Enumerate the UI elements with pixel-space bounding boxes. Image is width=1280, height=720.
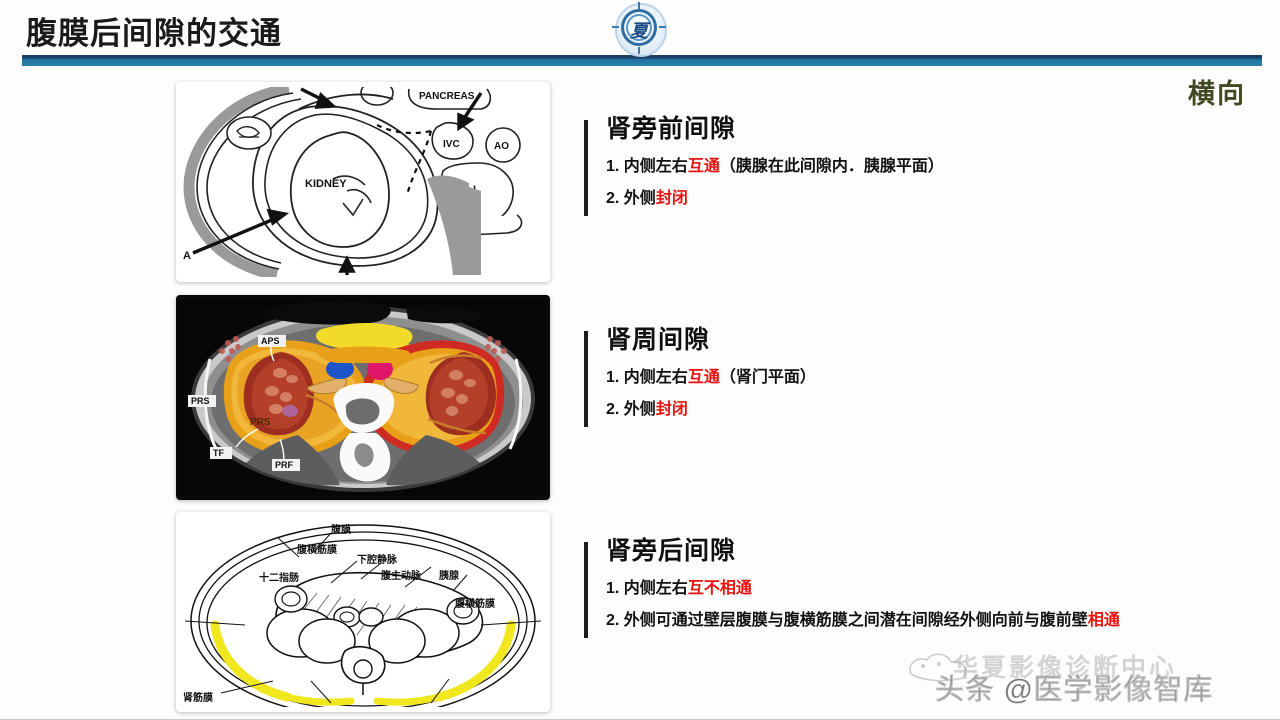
svg-text:PANCREAS: PANCREAS — [419, 91, 475, 102]
list-item: 1. 内侧左右互通（胰腺在此间隙内．胰腺平面） — [606, 157, 944, 176]
watermark: 华夏影像诊断中心 头条 @医学影像智库 — [905, 648, 1275, 714]
item-number: 2. — [606, 190, 619, 207]
item-text-pre: 内侧左右 — [624, 580, 688, 597]
item-text-pre: 内侧左右 — [624, 158, 688, 175]
svg-text:腹主动脉: 腹主动脉 — [381, 569, 422, 582]
section-accent-bar — [584, 542, 588, 638]
figure-anterior-pararenal-diagram: KIDNEY PANCREAS IVC AO L — [176, 82, 550, 282]
svg-text:腹横筋膜: 腹横筋膜 — [455, 597, 495, 610]
institution-logo-icon: 夏 — [604, 2, 674, 54]
item-text-pre: 外侧 — [624, 401, 656, 418]
list-item: 2. 外侧封闭 — [606, 400, 816, 419]
item-text-highlight: 互通 — [688, 158, 720, 175]
section-accent-bar — [584, 331, 588, 427]
item-number: 1. — [606, 580, 619, 597]
item-text-pre: 外侧可通过壁层腹膜与腹横筋膜之间潜在间隙经外侧向前与腹前壁 — [624, 612, 1088, 629]
presentation-slide: 腹膜后间隙的交通 夏 横向 KIDNEY — [0, 0, 1280, 720]
svg-text:KIDNEY: KIDNEY — [305, 178, 347, 190]
list-item: 2. 外侧可通过壁层腹膜与腹横筋膜之间潜在间隙经外侧向前与腹前壁相通 — [606, 611, 1120, 630]
svg-text:IVC: IVC — [443, 139, 460, 150]
item-number: 1. — [606, 369, 619, 386]
item-text-highlight: 封闭 — [656, 190, 688, 207]
section-heading: 肾旁后间隙 — [606, 538, 1120, 566]
item-text-pre: 内侧左右 — [624, 369, 688, 386]
svg-text:TF: TF — [213, 448, 224, 458]
section-accent-bar — [584, 120, 588, 216]
item-text-highlight: 封闭 — [656, 401, 688, 418]
section-heading: 肾旁前间隙 — [606, 116, 944, 144]
logo-tick-top — [638, 2, 640, 9]
item-text-highlight: 相通 — [1088, 612, 1120, 629]
svg-text:腹膜: 腹膜 — [331, 523, 351, 536]
figure-posterior-pararenal-diagram: 腹膜 腹横筋膜 十二指肠 下腔静脉 腹主动脉 胰腺 腹横筋膜 肾筋膜 — [176, 512, 550, 712]
svg-text:PRS: PRS — [191, 396, 210, 406]
watermark-back-text: 华夏影像诊断中心 — [953, 648, 1177, 684]
figure-1-drawing: KIDNEY PANCREAS IVC AO L — [181, 87, 545, 277]
figure-2-ct-image: APS TF PRF PRS PRS — [180, 299, 546, 496]
svg-text:A: A — [183, 250, 191, 262]
page-title: 腹膜后间隙的交通 — [26, 8, 282, 53]
watermark-doodle-icon — [905, 650, 975, 684]
section-anterior-pararenal-space: 肾旁前间隙 1. 内侧左右互通（胰腺在此间隙内．胰腺平面） 2. 外侧封闭 — [584, 116, 944, 208]
list-item: 2. 外侧封闭 — [606, 189, 944, 208]
figure-3-drawing: 腹膜 腹横筋膜 十二指肠 下腔静脉 腹主动脉 胰腺 腹横筋膜 肾筋膜 — [181, 517, 545, 707]
logo-tick-bottom — [638, 47, 640, 54]
svg-text:胰腺: 胰腺 — [439, 569, 460, 582]
figure-perirenal-space-ct: APS TF PRF PRS PRS — [176, 295, 550, 500]
section-heading: 肾周间隙 — [606, 327, 816, 355]
svg-text:PRS: PRS — [250, 417, 271, 428]
svg-text:APS: APS — [261, 336, 280, 346]
item-text-highlight: 互通 — [688, 369, 720, 386]
svg-text:下腔静脉: 下腔静脉 — [357, 553, 398, 566]
item-text-pre: 外侧 — [624, 190, 656, 207]
svg-text:十二指肠: 十二指肠 — [259, 571, 299, 584]
item-text-highlight: 互不相通 — [688, 580, 752, 597]
item-text-post: （胰腺在此间隙内．胰腺平面） — [720, 158, 944, 175]
logo-tick-right — [659, 26, 666, 28]
item-number: 1. — [606, 158, 619, 175]
item-number: 2. — [606, 612, 619, 629]
svg-text:PRF: PRF — [275, 460, 294, 470]
logo-monogram: 夏 — [630, 17, 648, 43]
item-text-post: （肾门平面） — [720, 369, 816, 386]
section-perirenal-space: 肾周间隙 1. 内侧左右互通（肾门平面） 2. 外侧封闭 — [584, 327, 816, 419]
watermark-front-text: 头条 @医学影像智库 — [935, 666, 1213, 708]
svg-text:腹横筋膜: 腹横筋膜 — [297, 543, 337, 556]
logo-tick-left — [612, 26, 619, 28]
orientation-label: 横向 — [1188, 72, 1246, 111]
list-item: 1. 内侧左右互不相通 — [606, 579, 1120, 598]
item-number: 2. — [606, 401, 619, 418]
list-item: 1. 内侧左右互通（肾门平面） — [606, 368, 816, 387]
svg-text:肾筋膜: 肾筋膜 — [183, 691, 213, 704]
svg-text:AO: AO — [494, 141, 509, 152]
section-posterior-pararenal-space: 肾旁后间隙 1. 内侧左右互不相通 2. 外侧可通过壁层腹膜与腹横筋膜之间潜在间… — [584, 538, 1120, 630]
